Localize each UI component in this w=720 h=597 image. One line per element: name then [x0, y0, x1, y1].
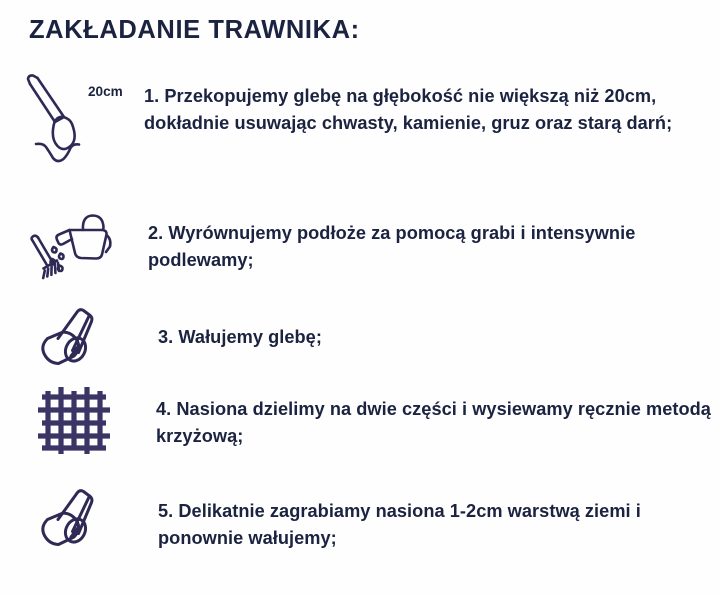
lawn-instructions-page: ZAKŁADANIE TRAWNIKA: [0, 0, 720, 597]
list-item: 2. Wyrównujemy podłoże za pomocą grabi i… [0, 184, 720, 284]
list-item: 20cm 1. Przekopujemy glebę na głębokość … [0, 66, 720, 184]
cross-sowing-grid-icon [36, 384, 114, 458]
step-text: 2. Wyrównujemy podłoże za pomocą grabi i… [148, 184, 720, 274]
page-title: ZAKŁADANIE TRAWNIKA: [29, 16, 360, 45]
step-3-icon-cell [0, 284, 158, 369]
step-5-icon-cell [0, 474, 158, 550]
spade-digging-icon [24, 72, 94, 164]
steps-list: 20cm 1. Przekopujemy glebę na głębokość … [0, 66, 720, 564]
list-item: 4. Nasiona dzielimy na dwie części i wys… [0, 372, 720, 474]
spade-depth-label: 20cm [88, 84, 123, 99]
step-text: 3. Wałujemy glebę; [158, 284, 720, 351]
step-text: 1. Przekopujemy glebę na głębokość nie w… [144, 66, 720, 137]
step-2-icon-cell [0, 184, 148, 282]
step-1-icon-cell: 20cm [0, 66, 144, 162]
step-text: 4. Nasiona dzielimy na dwie części i wys… [156, 372, 720, 450]
watering-can-and-rake-icon [28, 208, 112, 282]
step-text: 5. Delikatnie zagrabiamy nasiona 1-2cm w… [158, 474, 720, 552]
list-item: 5. Delikatnie zagrabiamy nasiona 1-2cm w… [0, 474, 720, 564]
list-item: 3. Wałujemy glebę; [0, 284, 720, 372]
step-4-icon-cell [0, 372, 156, 458]
lawn-roller-icon [38, 307, 104, 369]
lawn-roller-icon [38, 488, 104, 550]
